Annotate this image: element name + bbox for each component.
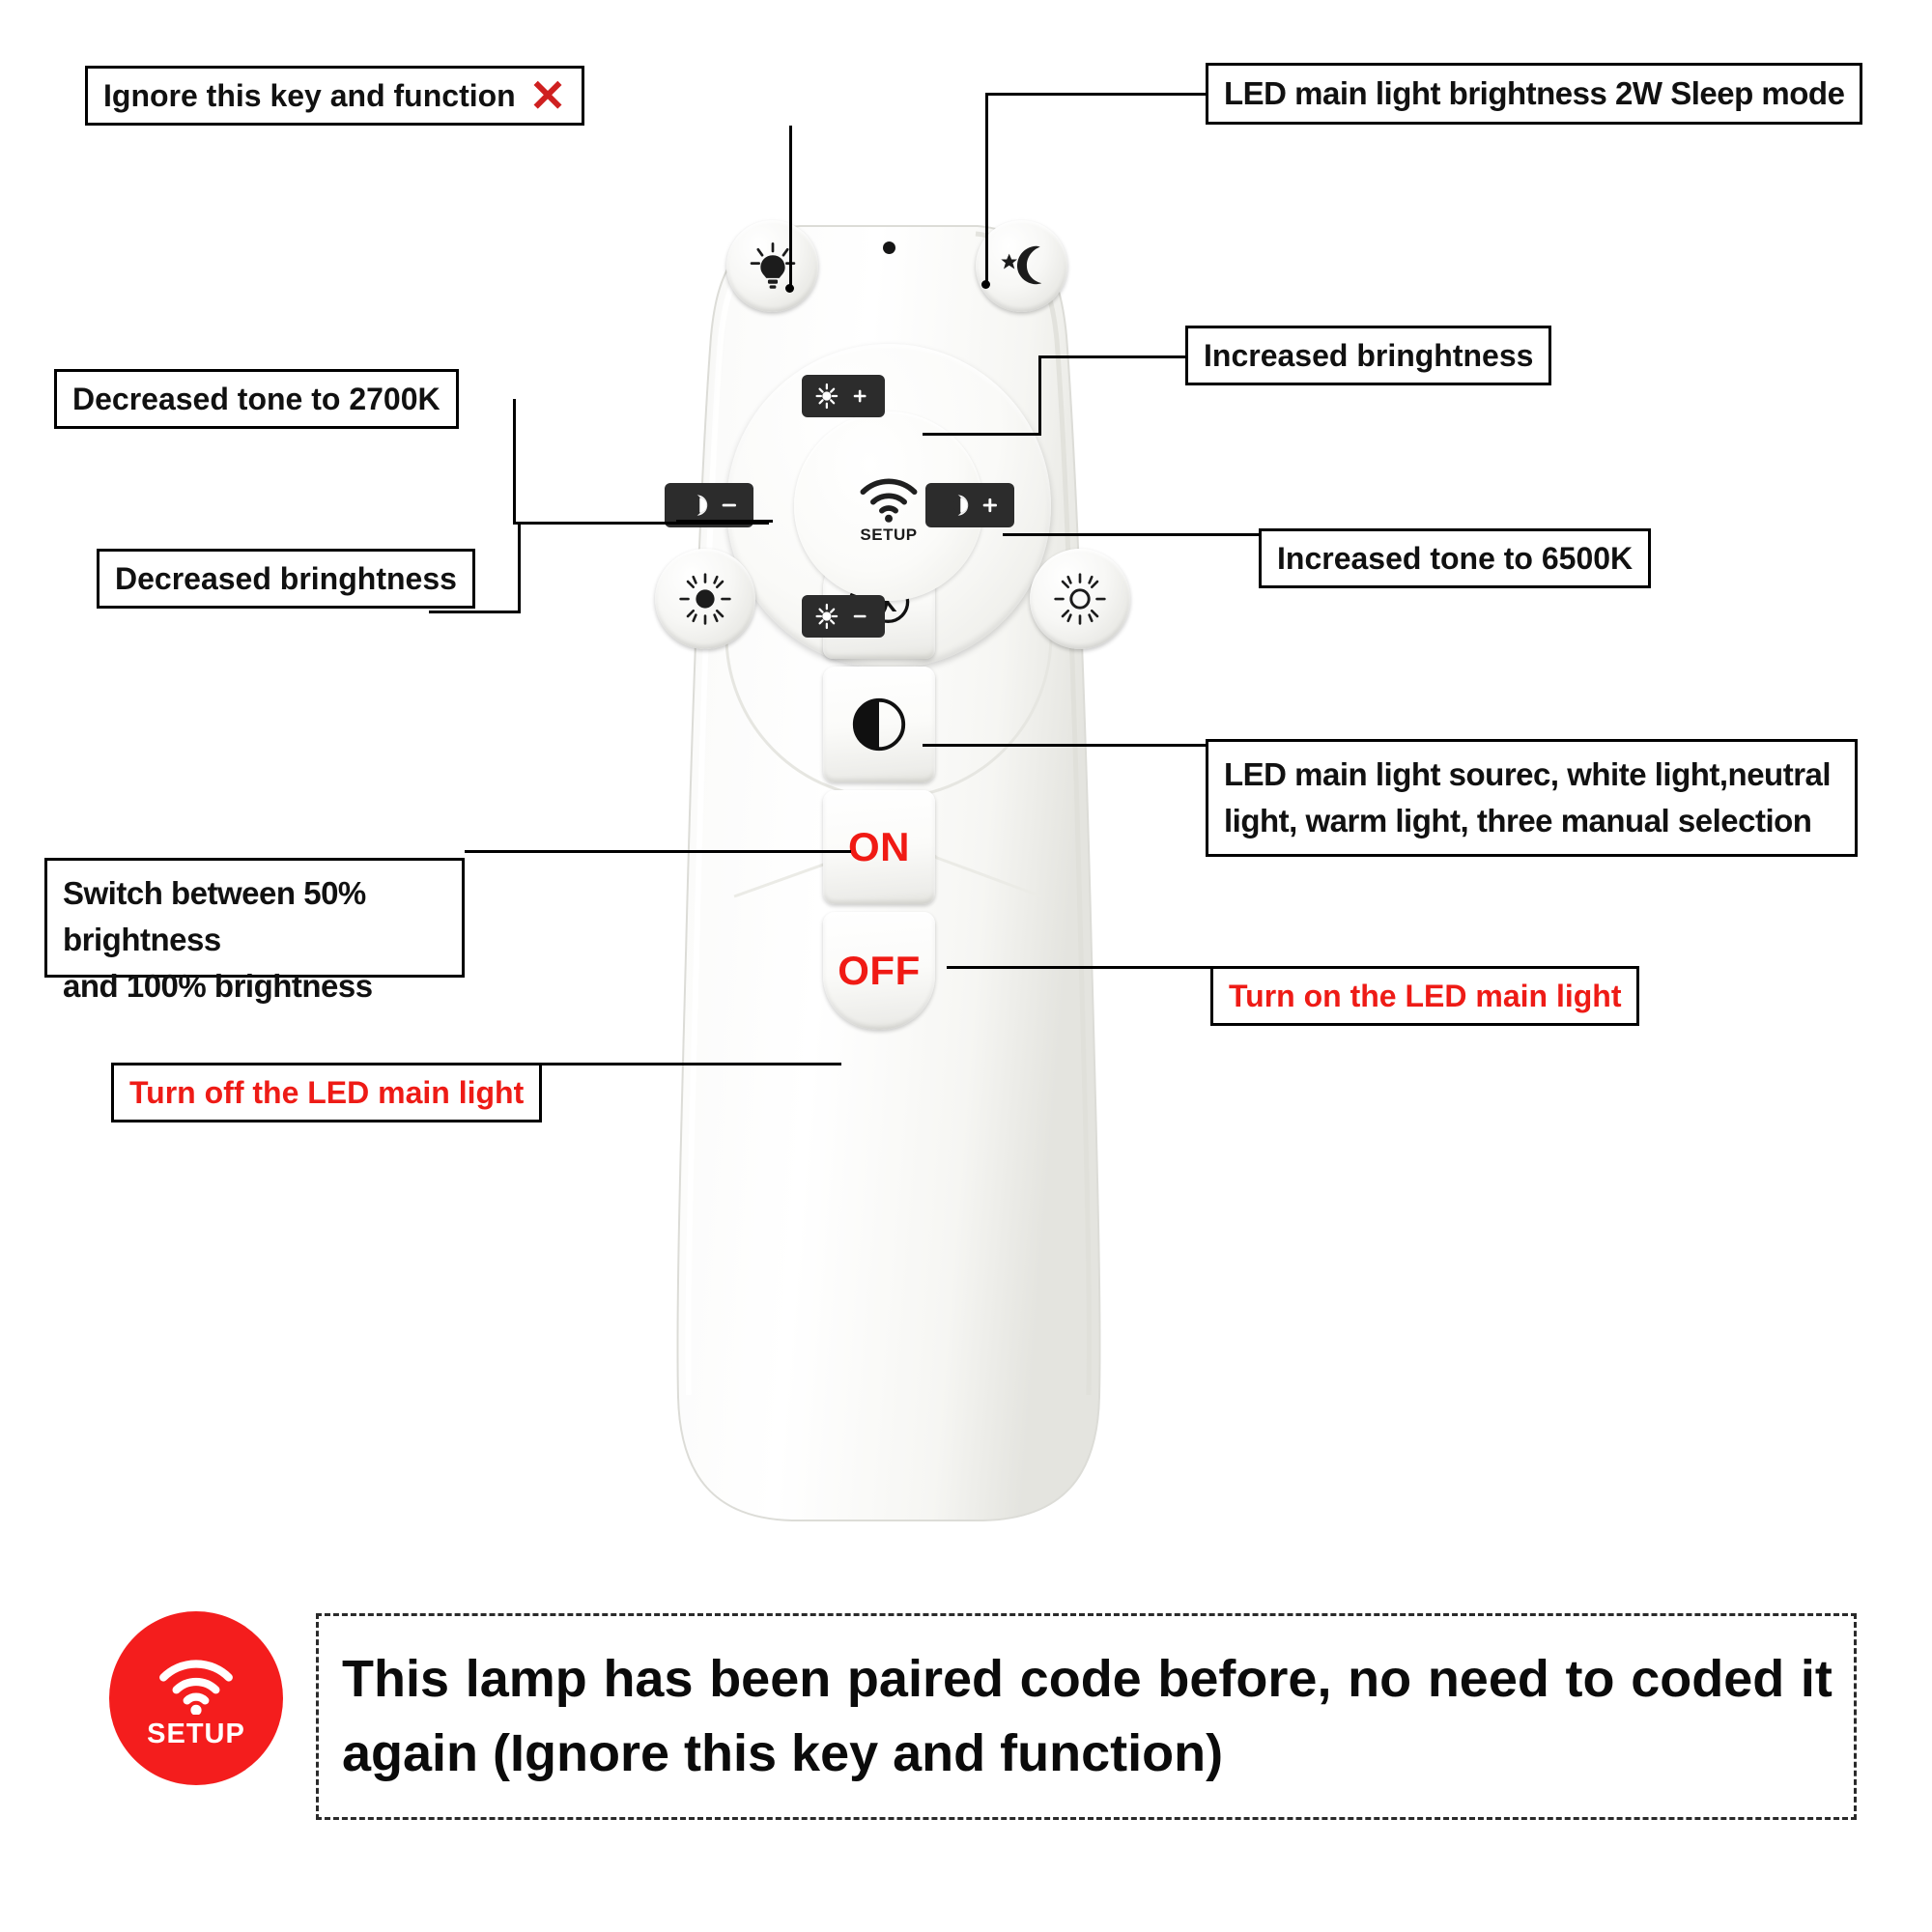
callout-decreased-tone-text: Decreased tone to 2700K	[72, 377, 440, 421]
note-word: paired	[847, 1642, 1004, 1717]
leader-sleep-dot	[981, 280, 990, 289]
tone-up-button[interactable]	[925, 483, 1014, 527]
callout-decreased-brightness: Decreased bringhtness	[97, 549, 475, 609]
callout-switch-brightness: Switch between 50% brightness and 100% b…	[44, 858, 465, 978]
callout-light-source: LED main light sourec, white light,neutr…	[1206, 739, 1858, 857]
sleep-mode-button[interactable]	[976, 220, 1067, 312]
callout-increased-tone-text: Increased tone to 6500K	[1277, 536, 1633, 581]
brightness-up-button[interactable]	[802, 375, 885, 417]
power-on-label: ON	[848, 824, 910, 870]
note-word: code	[1020, 1642, 1142, 1717]
note-word: no	[1348, 1642, 1411, 1717]
note-word: before,	[1157, 1642, 1331, 1717]
note-word: lamp	[466, 1642, 587, 1717]
callout-increased-brightness-text: Increased bringhtness	[1204, 333, 1533, 378]
sun-outline-icon	[1053, 572, 1107, 626]
setup-button-label: SETUP	[860, 526, 917, 545]
moon-plus-icon	[932, 489, 1008, 522]
leader-sleep-v	[985, 93, 988, 286]
bottom-note-line1: This lamp has been paired code before, n…	[342, 1642, 1833, 1717]
leader-switch-bright-h	[465, 850, 851, 853]
leader-dec-bright-h	[429, 611, 521, 613]
leader-turn-on-h	[947, 966, 1215, 969]
callout-ignore-key: Ignore this key and function ✕	[85, 66, 584, 126]
note-word: coded	[1631, 1642, 1784, 1717]
sun-minus-icon	[809, 601, 878, 632]
leader-inc-bright-h2	[923, 433, 1041, 436]
leader-sleep-h	[985, 93, 1207, 96]
callout-turn-off: Turn off the LED main light	[111, 1063, 542, 1122]
bottom-note: This lamp has been paired code before, n…	[316, 1613, 1857, 1820]
indicator-led	[883, 241, 895, 254]
leader-ignore-key-dot	[785, 284, 794, 293]
night-light-button[interactable]	[726, 220, 818, 312]
wifi-icon	[150, 1647, 242, 1715]
callout-increased-brightness: Increased bringhtness	[1185, 326, 1551, 385]
note-word: been	[709, 1642, 831, 1717]
callout-turn-on-text: Turn on the LED main light	[1229, 974, 1621, 1018]
moon-star-icon	[996, 242, 1048, 291]
callout-sleep-mode: LED main light brightness 2W Sleep mode	[1206, 63, 1862, 125]
leader-inc-bright-h1	[1038, 355, 1188, 358]
close-icon: ✕	[529, 73, 567, 118]
leader-inc-tone-h	[1003, 533, 1264, 536]
bottom-note-line2: again (Ignore this key and function)	[342, 1717, 1833, 1791]
leader-light-source-h	[923, 744, 1207, 747]
leader-dec-bright-h2	[676, 520, 773, 523]
brightness-toggle-button[interactable]	[823, 667, 935, 782]
note-word: need	[1428, 1642, 1549, 1717]
callout-light-source-line1: LED main light sourec, white light,neutr…	[1224, 752, 1839, 798]
callout-ignore-key-text: Ignore this key and function	[103, 73, 516, 118]
note-word: has	[603, 1642, 693, 1717]
callout-turn-off-text: Turn off the LED main light	[129, 1070, 524, 1115]
callout-decreased-tone: Decreased tone to 2700K	[54, 369, 459, 429]
sun-filled-button[interactable]	[655, 549, 755, 649]
leader-dec-bright-v	[518, 522, 521, 613]
callout-switch-brightness-line1: Switch between 50% brightness	[63, 870, 446, 963]
sun-plus-icon	[809, 381, 878, 412]
brightness-down-button[interactable]	[802, 595, 885, 638]
callout-increased-tone: Increased tone to 6500K	[1259, 528, 1651, 588]
wifi-icon	[852, 468, 925, 524]
sun-outline-button[interactable]	[1030, 549, 1130, 649]
callout-light-source-line2: light, warm light, three manual selectio…	[1224, 798, 1839, 844]
leader-ignore-key-v	[789, 126, 792, 290]
callout-decreased-brightness-text: Decreased bringhtness	[115, 556, 457, 601]
callout-sleep-mode-text: LED main light brightness 2W Sleep mode	[1224, 71, 1844, 117]
note-word: to	[1566, 1642, 1615, 1717]
leader-dec-tone-v	[513, 399, 516, 525]
setup-badge-label: SETUP	[147, 1719, 245, 1750]
note-word: it	[1801, 1642, 1833, 1717]
diagram-canvas: SETUP	[0, 0, 1932, 1932]
remote-control: SETUP	[676, 220, 1121, 1524]
callout-switch-brightness-line2: and 100% brightness	[63, 963, 446, 1009]
power-off-label: OFF	[838, 948, 920, 994]
sun-filled-icon	[678, 572, 732, 626]
power-on-button[interactable]: ON	[823, 790, 935, 904]
leader-inc-bright-v	[1038, 355, 1041, 435]
moon-minus-icon	[671, 489, 747, 522]
power-off-button[interactable]: OFF	[823, 912, 935, 1030]
callout-turn-on: Turn on the LED main light	[1210, 966, 1639, 1026]
contrast-icon	[849, 695, 909, 754]
note-word: This	[342, 1642, 449, 1717]
setup-badge: SETUP	[109, 1611, 283, 1785]
